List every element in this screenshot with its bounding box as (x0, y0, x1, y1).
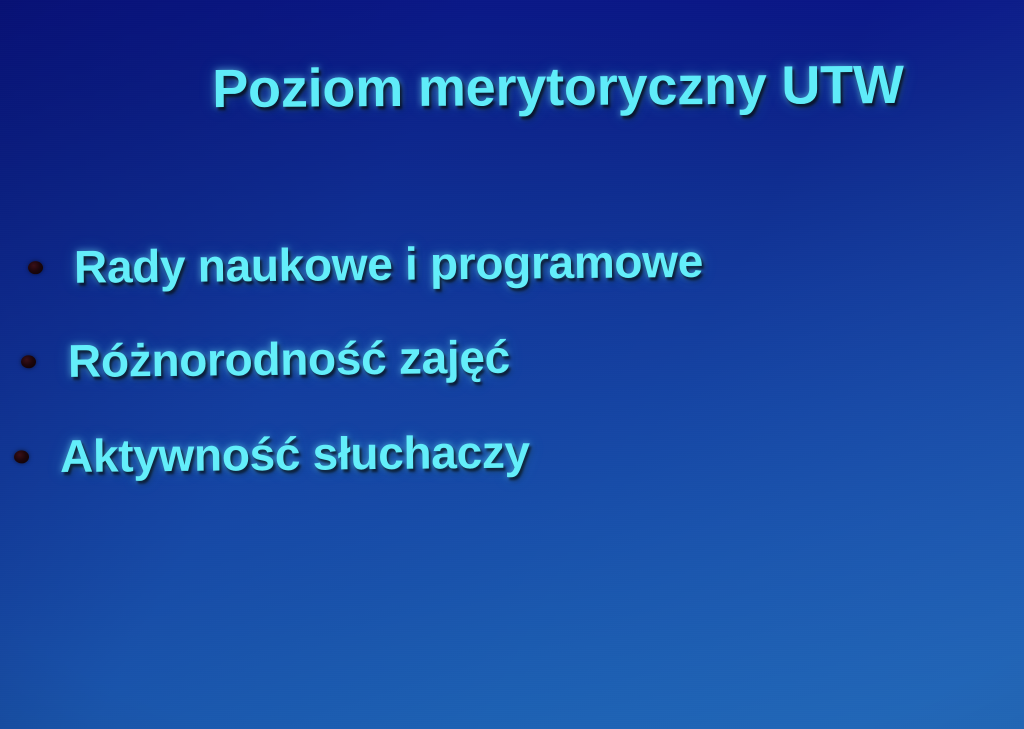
list-item-label: Aktywność słuchaczy (60, 425, 530, 484)
presentation-slide: Poziom merytoryczny UTW Rady naukowe i p… (0, 0, 1024, 729)
list-item-label: Różnorodność zajęć (68, 330, 510, 388)
list-item: Aktywność słuchaczy (14, 425, 530, 484)
bullet-list: Rady naukowe i programowe Różnorodność z… (0, 219, 1024, 519)
bullet-dot-icon (14, 450, 29, 463)
bullet-dot-icon (21, 355, 36, 368)
list-item: Różnorodność zajęć (21, 330, 510, 389)
list-item-label: Rady naukowe i programowe (74, 234, 703, 294)
slide-title: Poziom merytoryczny UTW (163, 56, 953, 119)
list-item: Rady naukowe i programowe (28, 234, 703, 294)
bullet-dot-icon (28, 261, 43, 274)
